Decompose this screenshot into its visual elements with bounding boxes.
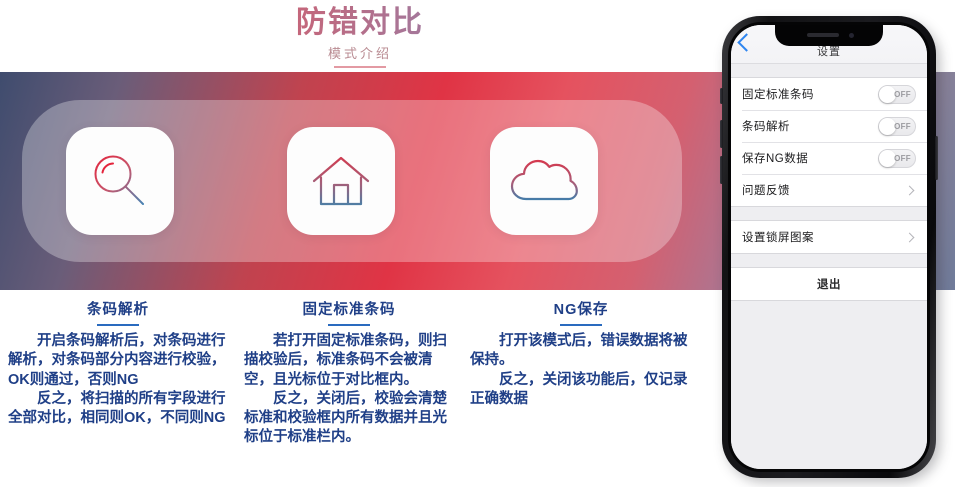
- list-spacer: [731, 64, 927, 77]
- settings-row-label: 固定标准条码: [742, 86, 814, 102]
- column-paragraph: 开启条码解析后，对条码进行解析，对条码部分内容进行校验，OK则通过，否则NG: [8, 332, 228, 390]
- column-divider: [97, 324, 139, 326]
- settings-row-label: 保存NG数据: [742, 150, 808, 166]
- settings-row-label: 条码解析: [742, 118, 790, 134]
- settings-row-feedback[interactable]: 问题反馈: [731, 174, 927, 206]
- column-body: 若打开固定标准条码，则扫描校验后，标准条码不会被清空，且光标位于对比框内。 反之…: [244, 332, 454, 448]
- chevron-right-icon: [905, 232, 915, 242]
- home-icon: [309, 152, 373, 210]
- speaker-grille-icon: [807, 33, 839, 37]
- page-subtitle: 模式介绍: [0, 43, 720, 62]
- description-column-fixed-standard: 固定标准条码 若打开固定标准条码，则扫描校验后，标准条码不会被清空，且光标位于对…: [236, 294, 462, 487]
- toggle-state-label: OFF: [894, 90, 911, 99]
- settings-row-label: 设置锁屏图案: [742, 229, 814, 245]
- settings-row-save-ng-data[interactable]: 保存NG数据 OFF: [731, 142, 927, 174]
- settings-list: 固定标准条码 OFF 条码解析 OFF: [731, 64, 927, 469]
- phone-screen: 设置 固定标准条码 OFF 条码解析: [731, 25, 927, 469]
- column-paragraph: 打开该模式后，错误数据将被保持。: [470, 332, 692, 371]
- toggle-fixed-standard-barcode[interactable]: OFF: [878, 85, 916, 104]
- front-camera-icon: [849, 33, 854, 38]
- column-paragraph: 反之，关闭后，校验会清楚标准和校验框内所有数据并且光标位于标准栏内。: [244, 390, 454, 448]
- settings-group-logout: 退出: [731, 267, 927, 301]
- list-spacer: [731, 207, 927, 220]
- settings-row-barcode-parse[interactable]: 条码解析 OFF: [731, 110, 927, 142]
- column-title: 固定标准条码: [244, 294, 454, 319]
- column-paragraph: 若打开固定标准条码，则扫描校验后，标准条码不会被清空，且光标位于对比框内。: [244, 332, 454, 390]
- column-title: 条码解析: [8, 294, 228, 319]
- column-paragraph: 反之，将扫描的所有字段进行全部对比，相同则OK，不同则NG: [8, 390, 228, 429]
- column-divider: [560, 324, 602, 326]
- silent-switch[interactable]: [720, 88, 723, 104]
- toggle-state-label: OFF: [894, 122, 911, 131]
- settings-row-lock-pattern[interactable]: 设置锁屏图案: [731, 221, 927, 253]
- settings-row-label: 问题反馈: [742, 182, 790, 198]
- column-body: 开启条码解析后，对条码进行解析，对条码部分内容进行校验，OK则通过，否则NG 反…: [8, 332, 228, 428]
- page-header: 防错对比 模式介绍: [0, 0, 720, 72]
- phone-mockup: 设置 固定标准条码 OFF 条码解析: [722, 16, 944, 487]
- column-body: 打开该模式后，错误数据将被保持。 反之，关闭该功能后，仅记录正确数据: [470, 332, 692, 409]
- description-column-barcode-parse: 条码解析 开启条码解析后，对条码进行解析，对条码部分内容进行校验，OK则通过，否…: [0, 294, 236, 487]
- logout-button[interactable]: 退出: [731, 268, 927, 300]
- page-title: 防错对比: [0, 0, 720, 41]
- phone-frame: 设置 固定标准条码 OFF 条码解析: [722, 16, 936, 478]
- settings-row-fixed-standard-barcode[interactable]: 固定标准条码 OFF: [731, 78, 927, 110]
- power-button[interactable]: [935, 136, 938, 180]
- logout-label: 退出: [817, 276, 841, 292]
- toggle-save-ng-data[interactable]: OFF: [878, 149, 916, 168]
- toggle-barcode-parse[interactable]: OFF: [878, 117, 916, 136]
- chevron-right-icon: [905, 185, 915, 195]
- volume-down-button[interactable]: [720, 156, 723, 184]
- subtitle-divider: [334, 66, 386, 68]
- settings-group-primary: 固定标准条码 OFF 条码解析 OFF: [731, 77, 927, 207]
- cloud-icon: [509, 155, 579, 207]
- description-column-ng-save: NG保存 打开该模式后，错误数据将被保持。 反之，关闭该功能后，仅记录正确数据: [462, 294, 700, 487]
- list-spacer: [731, 254, 927, 267]
- settings-group-lockscreen: 设置锁屏图案: [731, 220, 927, 254]
- column-divider: [328, 324, 370, 326]
- description-columns: 条码解析 开启条码解析后，对条码进行解析，对条码部分内容进行校验，OK则通过，否…: [0, 294, 700, 487]
- phone-bezel: 设置 固定标准条码 OFF 条码解析: [728, 22, 930, 472]
- magnifier-icon: [89, 150, 151, 212]
- column-paragraph: 反之，关闭该功能后，仅记录正确数据: [470, 371, 692, 410]
- home-card[interactable]: [287, 127, 395, 235]
- column-title: NG保存: [470, 294, 692, 319]
- volume-up-button[interactable]: [720, 120, 723, 148]
- toggle-state-label: OFF: [894, 154, 911, 163]
- phone-notch: [775, 25, 883, 46]
- cloud-card[interactable]: [490, 127, 598, 235]
- search-card[interactable]: [66, 127, 174, 235]
